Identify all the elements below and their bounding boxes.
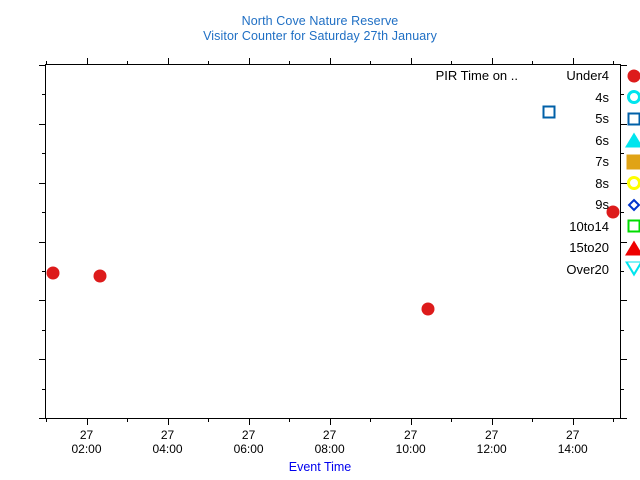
chart-title-block: North Cove Nature Reserve Visitor Counte…: [0, 14, 640, 44]
legend-item-marker: [622, 237, 640, 259]
data-point-under4: [428, 309, 441, 322]
x-axis-tick: [330, 58, 331, 65]
x-axis-tick-time: 12:00: [447, 442, 537, 456]
marker-triangle-up-icon: [625, 133, 640, 148]
x-axis-tick: [573, 418, 574, 425]
marker-square-filled-icon: [627, 154, 640, 169]
y-axis-minor-tick: [42, 212, 46, 213]
x-axis-minor-tick: [370, 418, 371, 422]
legend-item-8s[interactable]: 8s: [446, 173, 640, 195]
marker-square-open-icon: [628, 220, 640, 233]
legend-item-marker: [622, 173, 640, 195]
x-axis-tick-day: 27: [366, 428, 456, 442]
x-axis-tick-time: 14:00: [528, 442, 618, 456]
marker-circle-filled-icon: [421, 303, 434, 316]
page-title: North Cove Nature Reserve: [0, 14, 640, 29]
x-axis-tick-label: 2714:00: [528, 428, 618, 456]
y-axis-tick: [39, 418, 46, 419]
legend-item-label: 9s: [595, 194, 622, 216]
x-axis-minor-tick: [532, 418, 533, 422]
legend-item-4s[interactable]: 4s: [446, 87, 640, 109]
x-axis-tick: [87, 58, 88, 65]
x-axis-tick-day: 27: [447, 428, 537, 442]
legend-item-15to20[interactable]: 15to20: [446, 237, 640, 259]
x-axis-tick-label: 2706:00: [204, 428, 294, 456]
legend-item-marker: [622, 65, 640, 87]
x-axis-tick: [492, 58, 493, 65]
y-axis-tick: [620, 359, 627, 360]
x-axis-tick-label: 2710:00: [366, 428, 456, 456]
x-axis-tick: [168, 418, 169, 425]
x-axis-tick-time: 04:00: [123, 442, 213, 456]
data-point-under4: [53, 273, 66, 286]
legend-item-label: 6s: [595, 130, 622, 152]
legend-item-label: 7s: [595, 151, 622, 173]
x-axis-minor-tick: [208, 418, 209, 422]
y-axis-tick: [39, 242, 46, 243]
y-axis-minor-tick: [42, 153, 46, 154]
x-axis-minor-tick: [613, 418, 614, 422]
x-axis-minor-tick: [208, 61, 209, 65]
x-axis-minor-tick: [127, 418, 128, 422]
legend-item-label: Over20: [566, 259, 622, 281]
x-axis-tick-day: 27: [528, 428, 618, 442]
marker-circle-filled-icon: [628, 69, 640, 82]
legend-item-marker: [622, 151, 640, 173]
legend-item-label: Under4: [566, 65, 622, 87]
x-axis-tick-label: 2712:00: [447, 428, 537, 456]
y-axis-tick: [39, 183, 46, 184]
legend-item-marker: [622, 108, 640, 130]
legend-item-label: 15to20: [569, 237, 622, 259]
x-axis-tick-time: 10:00: [366, 442, 456, 456]
y-axis-minor-tick: [620, 389, 624, 390]
legend-item-marker: [622, 87, 640, 109]
x-axis-tick: [411, 418, 412, 425]
legend-item-9s[interactable]: 9s: [446, 194, 640, 216]
y-axis-minor-tick: [42, 330, 46, 331]
plot-area: 0123456 2702:002704:002706:002708:002710…: [45, 64, 621, 419]
legend-item-10to14[interactable]: 10to14: [446, 216, 640, 238]
legend-item-marker: [622, 194, 640, 216]
x-axis-tick-time: 02:00: [42, 442, 132, 456]
x-axis-tick: [168, 58, 169, 65]
marker-diamond-open-icon: [628, 198, 640, 211]
x-axis-tick: [249, 418, 250, 425]
y-axis-minor-tick: [42, 271, 46, 272]
x-axis-tick-label: 2704:00: [123, 428, 213, 456]
x-axis-tick-label: 2702:00: [42, 428, 132, 456]
data-point-under4: [100, 276, 113, 289]
y-axis-minor-tick: [42, 389, 46, 390]
x-axis-minor-tick: [289, 61, 290, 65]
x-axis-minor-tick: [451, 418, 452, 422]
legend-item-label: 4s: [595, 87, 622, 109]
legend-title: PIR Time on ..: [436, 65, 518, 87]
legend-item-marker: [622, 216, 640, 238]
x-axis-tick-label: 2708:00: [285, 428, 375, 456]
marker-triangle-down-open-icon: [625, 262, 640, 277]
x-axis-tick-day: 27: [123, 428, 213, 442]
legend-item-label: 5s: [595, 108, 622, 130]
y-axis-tick: [39, 300, 46, 301]
legend-item-6s[interactable]: 6s: [446, 130, 640, 152]
y-axis-tick: [39, 359, 46, 360]
y-axis-tick: [620, 300, 627, 301]
x-axis-minor-tick: [46, 418, 47, 422]
y-axis-tick: [620, 418, 627, 419]
x-axis-tick: [573, 58, 574, 65]
x-axis-tick-day: 27: [285, 428, 375, 442]
x-axis-minor-tick: [127, 61, 128, 65]
y-axis-tick: [39, 124, 46, 125]
legend-item-7s[interactable]: 7s: [446, 151, 640, 173]
x-axis-minor-tick: [289, 418, 290, 422]
x-axis-minor-tick: [46, 61, 47, 65]
x-axis-tick: [249, 58, 250, 65]
marker-triangle-up-icon: [625, 240, 640, 255]
legend-item-5s[interactable]: 5s: [446, 108, 640, 130]
legend-item-marker: [622, 130, 640, 152]
x-axis-tick-day: 27: [42, 428, 132, 442]
x-axis-tick: [492, 418, 493, 425]
x-axis-tick-time: 08:00: [285, 442, 375, 456]
x-axis-minor-tick: [370, 61, 371, 65]
y-axis-minor-tick: [620, 330, 624, 331]
y-axis-minor-tick: [42, 94, 46, 95]
legend-item-label: 8s: [595, 173, 622, 195]
x-axis-tick-day: 27: [204, 428, 294, 442]
marker-circle-open-icon: [627, 176, 640, 190]
x-axis-tick: [87, 418, 88, 425]
chart-legend: PIR Time on ..Under44s5s6s7s8s9s10to1415…: [446, 65, 640, 280]
y-axis-tick: [39, 65, 46, 66]
marker-circle-open-icon: [627, 90, 640, 104]
x-axis-tick-time: 06:00: [204, 442, 294, 456]
legend-item-under4[interactable]: PIR Time on ..Under4: [446, 65, 640, 87]
marker-circle-filled-icon: [46, 266, 59, 279]
chart-canvas: North Cove Nature Reserve Visitor Counte…: [0, 0, 640, 480]
marker-circle-filled-icon: [94, 269, 107, 282]
x-axis-title: Event Time: [0, 460, 640, 474]
legend-item-label: 10to14: [569, 216, 622, 238]
legend-item-marker: [622, 259, 640, 281]
chart-subtitle: Visitor Counter for Saturday 27th Januar…: [0, 29, 640, 44]
x-axis-tick: [411, 58, 412, 65]
legend-item-over20[interactable]: Over20: [446, 259, 640, 281]
marker-square-open-icon: [628, 112, 640, 125]
x-axis-tick: [330, 418, 331, 425]
